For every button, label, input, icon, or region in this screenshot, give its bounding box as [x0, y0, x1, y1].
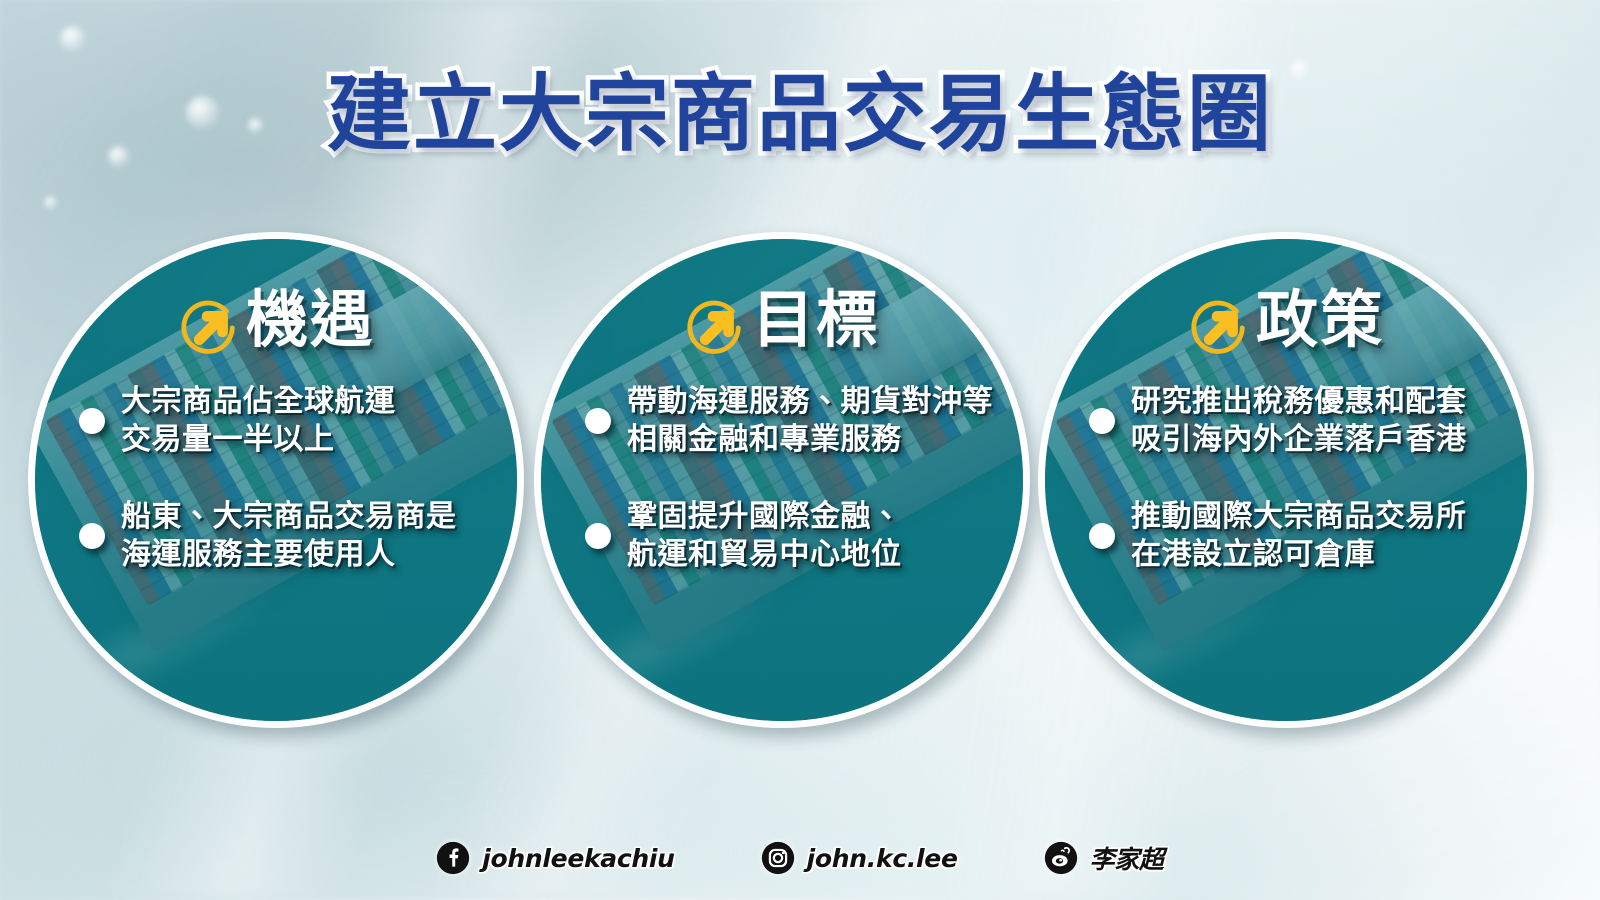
- bullet-dot-icon: [79, 408, 105, 434]
- list-item: 研究推出稅務優惠和配套 吸引海內外企業落戶香港: [1089, 383, 1497, 460]
- bullet-list: 帶動海運服務、期貨對沖等 相關金融和專業服務 鞏固提升國際金融、 航運和貿易中心…: [571, 383, 993, 575]
- list-item: 帶動海運服務、期貨對沖等 相關金融和專業服務: [585, 383, 993, 460]
- section-circle-goal[interactable]: 目標 帶動海運服務、期貨對沖等 相關金融和專業服務 鞏固提升國際金融、 航運和貿…: [534, 232, 1030, 728]
- bullet-text: 船東、大宗商品交易商是 海運服務主要使用人: [121, 498, 457, 575]
- section-header: 機遇: [178, 283, 374, 357]
- bullet-text: 大宗商品佔全球航運 交易量一半以上: [121, 383, 396, 460]
- social-handle-facebook: johnleekachiu: [482, 844, 674, 873]
- social-footer: johnleekachiu john.kc.lee 李家超: [0, 840, 1600, 876]
- social-link-facebook[interactable]: johnleekachiu: [436, 841, 674, 875]
- weibo-icon: [1044, 841, 1078, 875]
- instagram-icon: [761, 841, 795, 875]
- page-title-container: 建立大宗商品交易生態圈: [0, 72, 1600, 156]
- bullet-dot-icon: [585, 408, 611, 434]
- bullet-list: 研究推出稅務優惠和配套 吸引海內外企業落戶香港 推動國際大宗商品交易所 在港設立…: [1075, 383, 1497, 575]
- list-item: 船東、大宗商品交易商是 海運服務主要使用人: [79, 498, 487, 575]
- social-link-weibo[interactable]: 李家超: [1044, 840, 1164, 876]
- bullet-dot-icon: [1089, 408, 1115, 434]
- section-heading: 機遇: [246, 289, 374, 351]
- bullet-dot-icon: [1089, 523, 1115, 549]
- bullet-text: 鞏固提升國際金融、 航運和貿易中心地位: [627, 498, 902, 575]
- section-header: 目標: [684, 283, 880, 357]
- bullet-list: 大宗商品佔全球航運 交易量一半以上 船東、大宗商品交易商是 海運服務主要使用人: [65, 383, 487, 575]
- social-handle-weibo: 李家超: [1090, 840, 1164, 876]
- bullet-dot-icon: [79, 523, 105, 549]
- section-heading: 政策: [1256, 289, 1384, 351]
- bokeh-spot: [44, 196, 58, 210]
- arrow-up-right-circle-icon: [1188, 295, 1250, 357]
- infographic-poster: 建立大宗商品交易生態圈 機遇: [0, 0, 1600, 900]
- list-item: 推動國際大宗商品交易所 在港設立認可倉庫: [1089, 498, 1497, 575]
- list-item: 鞏固提升國際金融、 航運和貿易中心地位: [585, 498, 993, 575]
- bullet-text: 研究推出稅務優惠和配套 吸引海內外企業落戶香港: [1131, 383, 1467, 460]
- list-item: 大宗商品佔全球航運 交易量一半以上: [79, 383, 487, 460]
- bullet-dot-icon: [585, 523, 611, 549]
- bullet-text: 帶動海運服務、期貨對沖等 相關金融和專業服務: [627, 383, 993, 460]
- social-handle-instagram: john.kc.lee: [807, 844, 958, 873]
- arrow-up-right-circle-icon: [684, 295, 746, 357]
- section-heading: 目標: [752, 289, 880, 351]
- page-title: 建立大宗商品交易生態圈: [327, 72, 1273, 156]
- section-circle-policy[interactable]: 政策 研究推出稅務優惠和配套 吸引海內外企業落戶香港 推動國際大宗商品交易所 在…: [1038, 232, 1534, 728]
- social-link-instagram[interactable]: john.kc.lee: [761, 841, 958, 875]
- sections-container: 機遇 大宗商品佔全球航運 交易量一半以上 船東、大宗商品交易商是 海運服務主要使…: [0, 232, 1600, 732]
- arrow-up-right-circle-icon: [178, 295, 240, 357]
- bokeh-spot: [60, 26, 86, 52]
- section-circle-opportunity[interactable]: 機遇 大宗商品佔全球航運 交易量一半以上 船東、大宗商品交易商是 海運服務主要使…: [28, 232, 524, 728]
- facebook-icon: [436, 841, 470, 875]
- section-header: 政策: [1188, 283, 1384, 357]
- bullet-text: 推動國際大宗商品交易所 在港設立認可倉庫: [1131, 498, 1467, 575]
